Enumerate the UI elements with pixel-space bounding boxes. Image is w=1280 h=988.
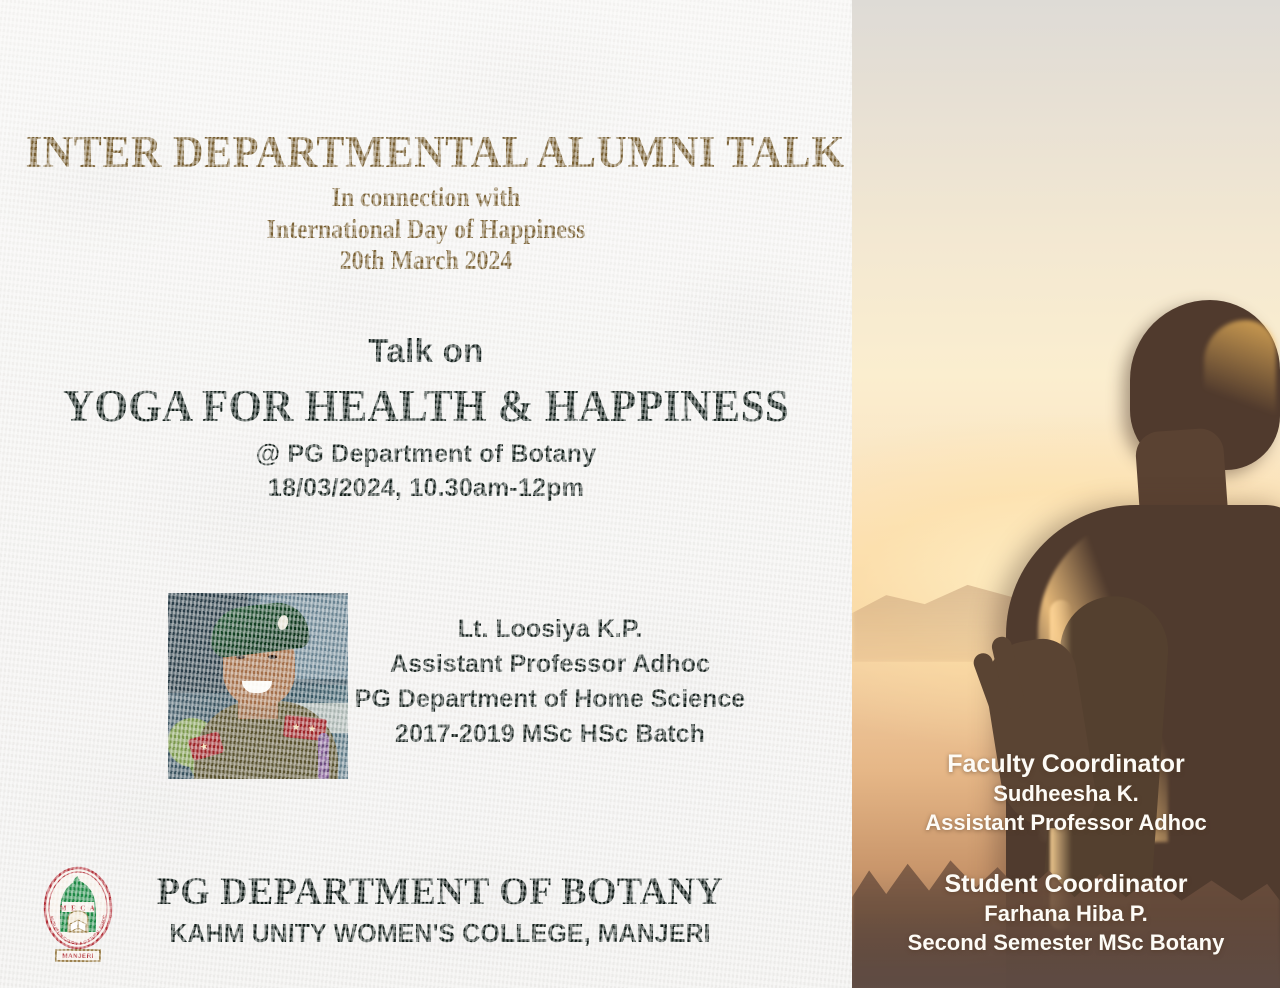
- faculty-coordinator-name: Sudheesha K.: [852, 780, 1280, 809]
- rank-star-icon: [308, 724, 317, 733]
- speaker-photo: [168, 593, 348, 779]
- college-logo: M E C A MUSLIM EDUCATIONAL & CULTURAL AS…: [38, 866, 118, 962]
- rank-star-icon: [292, 723, 301, 732]
- uniform-lanyard: [318, 733, 329, 779]
- subtitle-line-1: In connection with: [51, 182, 801, 214]
- speaker-batch: 2017-2019 MSc HSc Batch: [350, 717, 750, 752]
- speaker-details-block: Lt. Loosiya K.P. Assistant Professor Adh…: [350, 612, 750, 752]
- speaker-department: PG Department of Home Science: [350, 682, 750, 717]
- talk-on-label: Talk on: [0, 332, 852, 370]
- footer-department: PG DEPARTMENT OF BOTANY: [139, 869, 740, 914]
- speaker-designation: Assistant Professor Adhoc: [350, 647, 750, 682]
- faculty-coordinator-heading: Faculty Coordinator: [852, 748, 1280, 780]
- rank-star-icon: [199, 742, 209, 752]
- student-coordinator-heading: Student Coordinator: [852, 868, 1280, 900]
- talk-details-block: @ PG Department of Botany 18/03/2024, 10…: [0, 438, 852, 506]
- figure-hair-highlight: [1204, 320, 1276, 450]
- student-coordinator-block: Student Coordinator Farhana Hiba P. Seco…: [852, 868, 1280, 957]
- subtitle-line-3: 20th March 2024: [51, 245, 801, 277]
- talk-datetime: 18/03/2024, 10.30am-12pm: [0, 472, 852, 506]
- left-content-panel: INTER DEPARTMENTAL ALUMNI TALK In connec…: [0, 0, 852, 988]
- footer-college: KAHM UNITY WOMEN'S COLLEGE, MANJERI: [142, 918, 737, 949]
- talk-venue: @ PG Department of Botany: [0, 438, 852, 472]
- svg-text:MANJERI: MANJERI: [62, 953, 94, 960]
- sunset-meditation-photo: Faculty Coordinator Sudheesha K. Assista…: [852, 0, 1280, 988]
- speaker-eye-right: [268, 655, 277, 659]
- talk-topic-heading: YOGA FOR HEALTH & HAPPINESS: [17, 380, 835, 432]
- meditating-figure-silhouette: [976, 0, 1280, 988]
- faculty-coordinator-block: Faculty Coordinator Sudheesha K. Assista…: [852, 748, 1280, 837]
- meca-seal-icon: M E C A MUSLIM EDUCATIONAL & CULTURAL AS…: [38, 866, 118, 962]
- poster-subtitle-block: In connection with International Day of …: [0, 182, 852, 277]
- poster-title: INTER DEPARTMENTAL ALUMNI TALK: [26, 126, 827, 178]
- subtitle-line-2: International Day of Happiness: [51, 214, 801, 246]
- speaker-name: Lt. Loosiya K.P.: [350, 612, 750, 647]
- student-coordinator-designation: Second Semester MSc Botany: [852, 929, 1280, 958]
- poster-root: INTER DEPARTMENTAL ALUMNI TALK In connec…: [0, 0, 1280, 988]
- faculty-coordinator-designation: Assistant Professor Adhoc: [852, 809, 1280, 838]
- student-coordinator-name: Farhana Hiba P.: [852, 900, 1280, 929]
